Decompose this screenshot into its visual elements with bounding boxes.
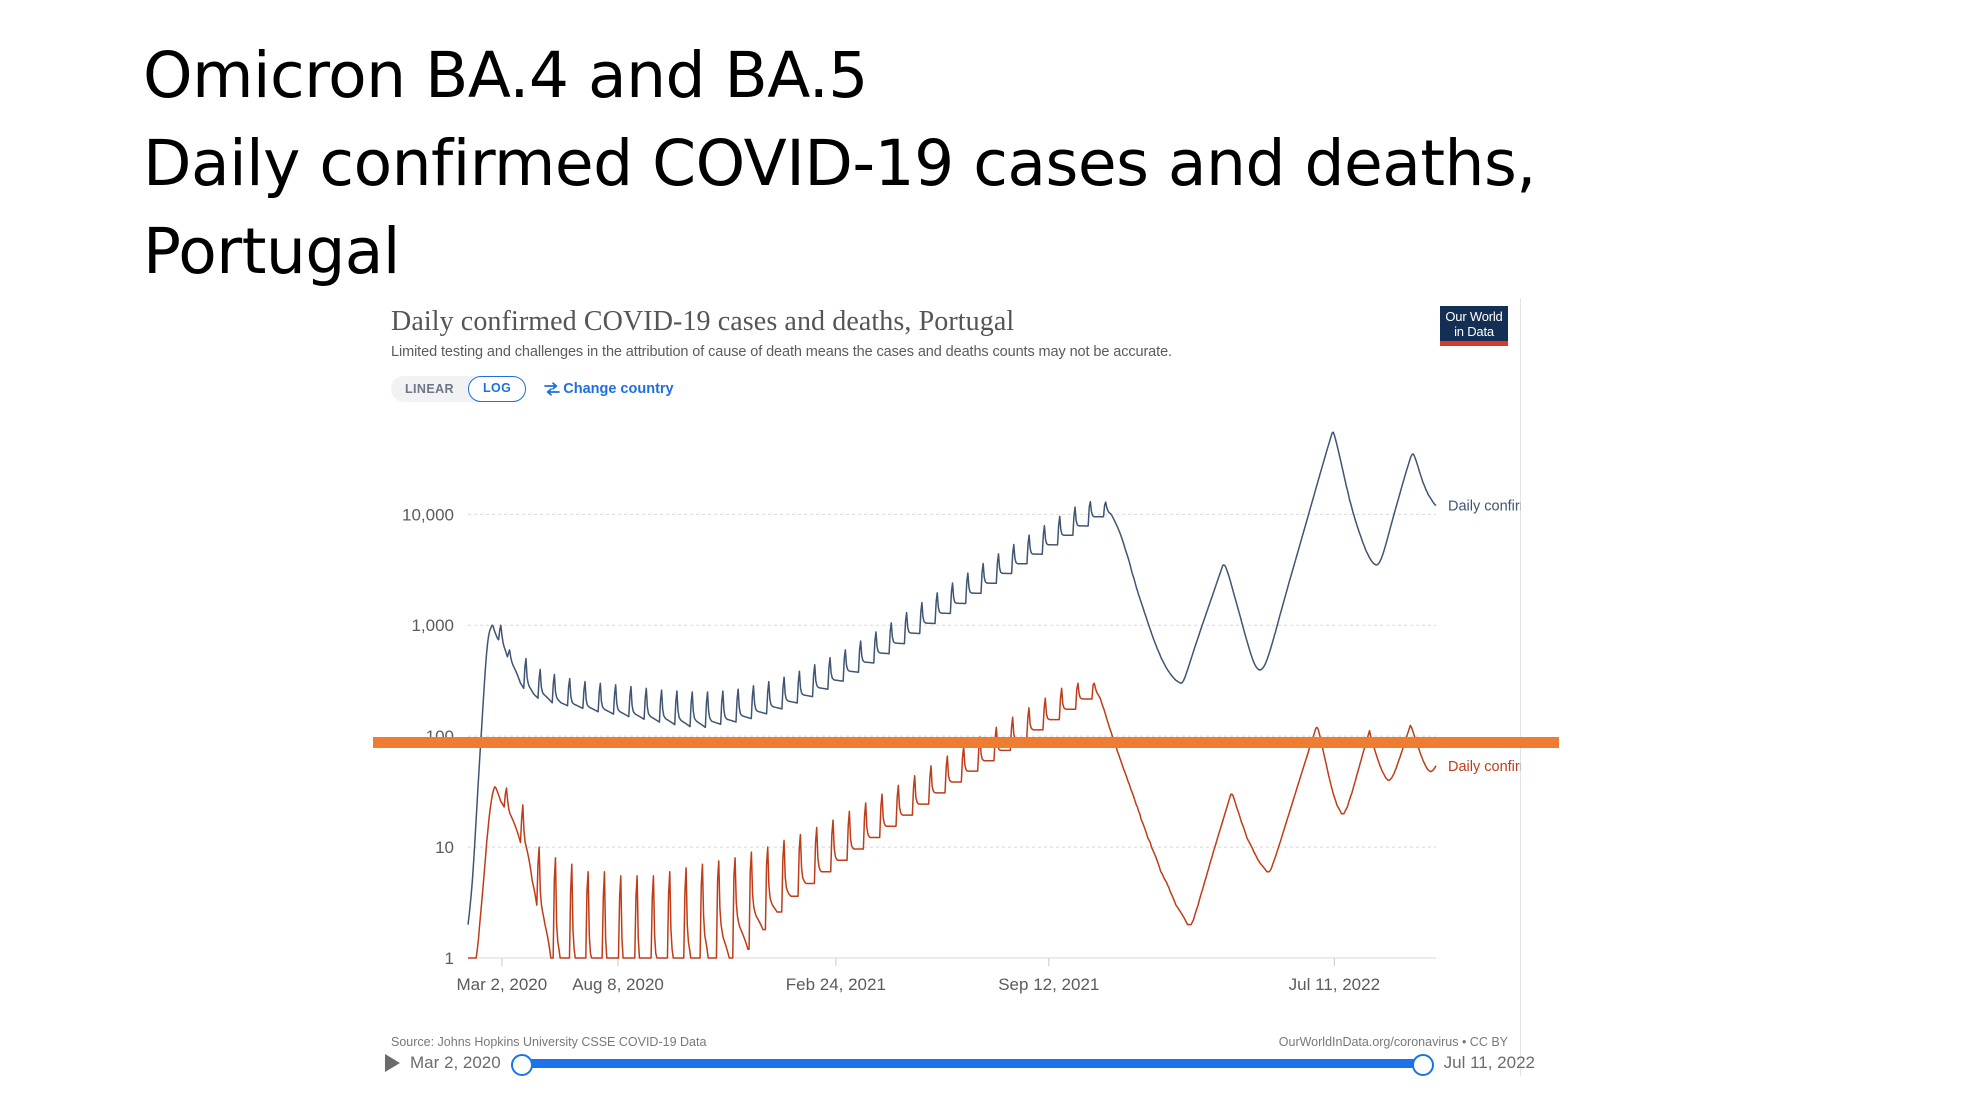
chart-footer: Source: Johns Hopkins University CSSE CO… — [391, 1035, 1508, 1049]
x-tick-label: Aug 8, 2020 — [572, 975, 664, 994]
logo-line-2: in Data — [1440, 324, 1508, 339]
chart-controls: LINEAR LOG Change country — [391, 376, 674, 402]
series-line-deaths — [468, 683, 1436, 958]
play-triangle-icon[interactable] — [385, 1054, 400, 1072]
y-tick-label: 1 — [445, 949, 454, 968]
timeline-start-date: Mar 2, 2020 — [410, 1053, 501, 1073]
x-tick-label: Sep 12, 2021 — [998, 975, 1099, 994]
chart-subtitle: Limited testing and challenges in the at… — [391, 344, 1510, 360]
x-tick-label: Jul 11, 2022 — [1289, 975, 1380, 994]
plot-area[interactable]: 1101001,00010,000 Mar 2, 2020Aug 8, 2020… — [373, 410, 1521, 1020]
x-tick-label: Mar 2, 2020 — [457, 975, 548, 994]
timeline-handle-start[interactable] — [511, 1054, 533, 1076]
y-tick-label: 1,000 — [411, 616, 454, 635]
series-labels: Daily confirmed casesDaily confirmed dea… — [1448, 499, 1521, 775]
chart-svg: 1101001,00010,000 Mar 2, 2020Aug 8, 2020… — [373, 410, 1521, 1020]
y-tick-label: 10,000 — [402, 505, 454, 524]
timeline-control[interactable]: Mar 2, 2020 Jul 11, 2022 — [385, 1048, 1535, 1078]
page-title: Omicron BA.4 and BA.5 Daily confirmed CO… — [143, 32, 1703, 296]
series-paths — [468, 432, 1436, 958]
owid-chart-card: Daily confirmed COVID-19 cases and death… — [373, 298, 1521, 1076]
chart-header: Daily confirmed COVID-19 cases and death… — [391, 306, 1510, 360]
logo-line-1: Our World — [1440, 309, 1508, 324]
series-label-cases: Daily confirmed cases — [1448, 499, 1521, 515]
swap-arrows-icon — [544, 381, 560, 397]
timeline-track[interactable] — [513, 1059, 1432, 1068]
scale-toggle[interactable]: LINEAR LOG — [391, 376, 526, 402]
timeline-handle-end[interactable] — [1412, 1054, 1434, 1076]
change-country-label: Change country — [563, 381, 673, 397]
our-world-in-data-logo[interactable]: Our World in Data — [1440, 306, 1508, 346]
chart-title: Daily confirmed COVID-19 cases and death… — [391, 306, 1510, 338]
x-tick-label: Feb 24, 2021 — [786, 975, 886, 994]
timeline-end-date: Jul 11, 2022 — [1444, 1053, 1535, 1073]
source-text: Source: Johns Hopkins University CSSE CO… — [391, 1035, 706, 1049]
change-country-button[interactable]: Change country — [544, 381, 673, 397]
y-tick-label: 10 — [435, 838, 454, 857]
series-line-cases — [468, 432, 1436, 924]
scale-option-linear[interactable]: LINEAR — [391, 376, 468, 402]
orange-highlight-line — [373, 737, 1559, 748]
attribution-text[interactable]: OurWorldInData.org/coronavirus • CC BY — [1279, 1035, 1508, 1049]
series-label-deaths: Daily confirmed deaths — [1448, 759, 1521, 775]
x-axis-ticks: Mar 2, 2020Aug 8, 2020Feb 24, 2021Sep 12… — [457, 958, 1381, 994]
scale-option-log[interactable]: LOG — [468, 376, 526, 402]
